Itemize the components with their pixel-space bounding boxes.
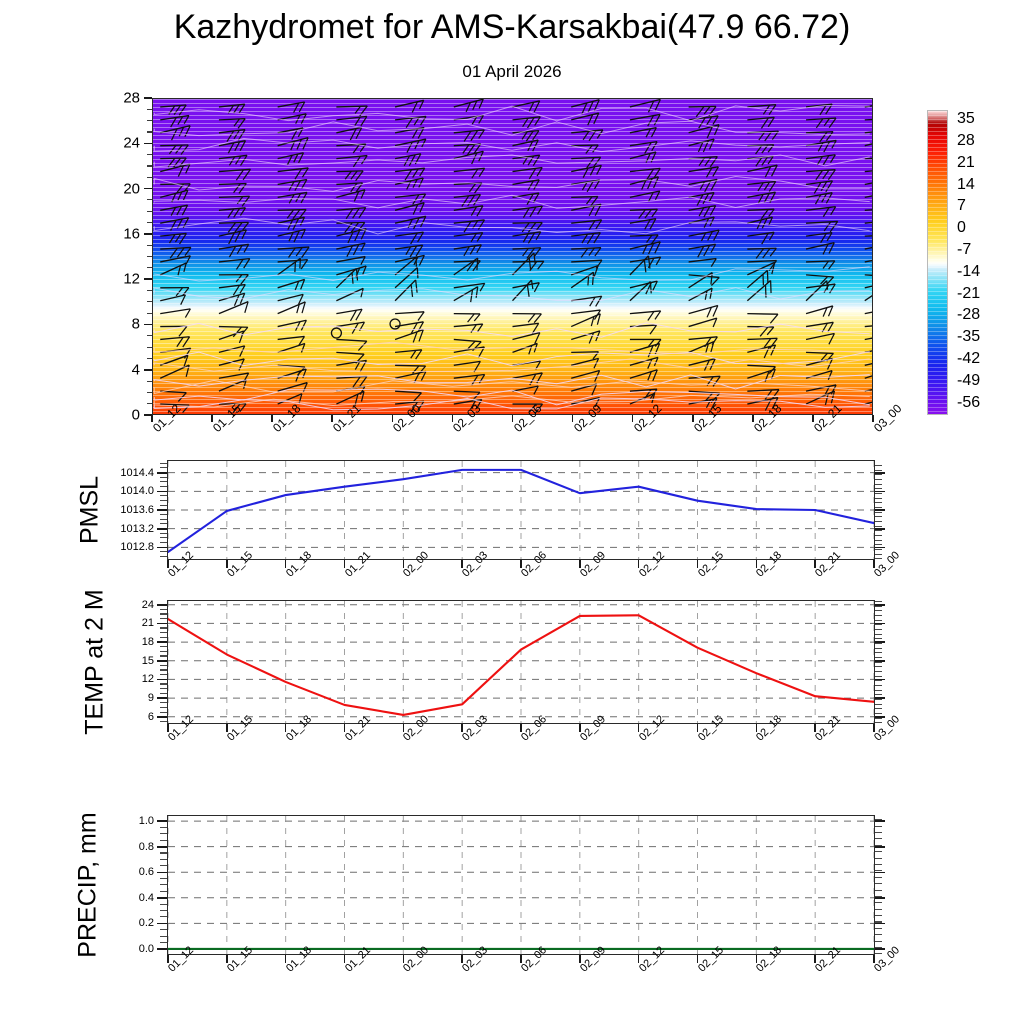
precip-y-minor-tick-right [875,915,882,916]
pmsl-y-tick-right [875,547,885,549]
precip-y-tick-label: 1.0 [139,815,154,827]
pmsl-x-tick [638,560,640,568]
temp-2m-y-minor-tick-right [875,634,882,635]
upper-air-cross-section-panel [152,98,873,415]
precip-y-minor-tick-right [875,953,882,954]
precip-y-tick [157,948,167,950]
precip-y-minor-tick [160,884,167,885]
colorbar-tick-label: 0 [957,219,966,237]
main-y-minor-tick [147,301,152,302]
precip-y-minor-tick-right [875,870,882,871]
colorbar-tick-label: -42 [957,350,980,368]
pmsl-y-minor-tick [160,500,167,501]
pmsl-y-minor-tick [160,505,167,506]
temp-2m-y-minor-tick-right [875,685,882,686]
main-y-minor-tick [147,335,152,336]
pmsl-y-minor-tick [160,481,167,482]
pmsl-x-tick [344,560,346,568]
temp-2m-y-tick [157,697,167,699]
pmsl-y-minor-tick-right [875,488,882,489]
temp-2m-y-minor-tick-right [875,671,882,672]
temp-2m-y-minor-tick-right [875,718,882,719]
pmsl-y-minor-tick-right [875,493,882,494]
temp-2m-y-minor-tick-right [875,713,882,714]
temp-2m-y-minor-tick-right [875,704,882,705]
pmsl-y-tick-label: 1012.8 [120,541,154,553]
colorbar-tick-label: -14 [957,263,980,281]
temp-2m-y-minor-tick-right [875,648,882,649]
temp-2m-y-minor-tick-right [875,676,882,677]
precip-y-minor-tick-right [875,819,882,820]
pmsl-y-minor-tick [160,533,167,534]
main-y-tick [144,369,152,371]
main-y-tick [144,97,152,99]
pmsl-y-minor-tick-right [875,521,882,522]
colorbar-tick-label: 35 [957,110,975,128]
temp-2m-y-tick [157,679,167,681]
temp-2m-y-minor-tick [160,669,167,670]
temp-2m-y-minor-tick-right [875,606,882,607]
temp-2m-y-minor-tick [160,693,167,694]
white-contour-lines [153,99,872,414]
precip-y-tick [157,820,167,822]
temp-2m-y-minor-tick-right [875,615,882,616]
precip-y-tick-right [875,948,885,950]
main-y-minor-tick [147,131,152,132]
precip-y-tick [157,846,167,848]
colorbar-tick-label: -21 [957,285,980,303]
pmsl-y-minor-tick-right [875,498,882,499]
precip-y-minor-tick-right [875,896,882,897]
temp-2m-y-minor-tick [160,627,167,628]
precip-y-tick-right [875,897,885,899]
main-y-minor-tick [147,154,152,155]
precip-y-minor-tick-right [875,877,882,878]
pmsl-y-minor-tick-right [875,535,882,536]
main-y-minor-tick [147,313,152,314]
pmsl-y-tick-right [875,509,885,511]
main-y-minor-tick [147,381,152,382]
pmsl-y-minor-tick-right [875,554,882,555]
main-y-minor-tick [147,177,152,178]
pmsl-y-minor-tick-right [875,479,882,480]
precip-y-minor-tick-right [875,902,882,903]
temp-2m-y-tick-label: 6 [148,711,154,723]
precip-y-minor-tick-right [875,838,882,839]
main-y-minor-tick [147,211,152,212]
precip-y-minor-tick [160,833,167,834]
precip-y-tick [157,897,167,899]
temp-2m-y-minor-tick [160,688,167,689]
main-y-tick-label: 20 [123,180,140,197]
precip-x-tick [285,955,287,963]
page-title: Kazhydromet for AMS-Karsakbai(47.9 66.72… [0,8,1024,47]
main-panel-y-axis: 0481216202428 [100,98,152,415]
precip-y-axis-right [875,815,889,955]
precip-y-minor-tick [160,916,167,917]
page-subtitle: 01 April 2026 [0,62,1024,82]
temp-2m-y-minor-tick [160,651,167,652]
precip-y-minor-tick-right [875,832,882,833]
precip-y-minor-tick-right [875,934,882,935]
temp-2m-y-minor-tick-right [875,629,882,630]
precip-y-minor-tick [160,929,167,930]
temp-2m-x-tick [344,724,346,732]
temp-2m-y-minor-tick-right [875,694,882,695]
precip-y-minor-tick [160,865,167,866]
temp-2m-y-minor-tick-right [875,708,882,709]
main-y-minor-tick [147,290,152,291]
temp-2m-y-minor-tick-right [875,624,882,625]
temp-2m-y-minor-tick [160,637,167,638]
precip-y-minor-tick [160,859,167,860]
precip-axis-title: PRECIP, mm [74,812,103,957]
pmsl-y-minor-tick-right [875,516,882,517]
precip-y-minor-tick [160,891,167,892]
pmsl-y-tick [157,509,167,511]
temp-2m-y-tick-label: 21 [142,617,154,629]
pmsl-y-tick [157,491,167,493]
pmsl-y-minor-tick [160,495,167,496]
pmsl-y-minor-tick [160,537,167,538]
pmsl-y-minor-tick [160,486,167,487]
main-y-tick-label: 16 [123,225,140,242]
temp-2m-y-minor-tick [160,665,167,666]
pmsl-y-tick [157,547,167,549]
pmsl-x-tick [285,560,287,568]
pmsl-y-minor-tick [160,463,167,464]
temp-2m-y-minor-tick-right [875,638,882,639]
temp-2m-y-tick [157,660,167,662]
main-x-tick-label: 03_00 [871,401,904,434]
temp-2m-y-minor-tick [160,613,167,614]
precip-axis-group: 0.00.20.40.60.81.0 [107,815,167,1025]
precip-y-minor-tick-right [875,890,882,891]
pmsl-y-tick-label: 1014.0 [120,485,154,497]
precip-y-tick-label: 0.6 [139,866,154,878]
precip-y-minor-tick-right [875,858,882,859]
pmsl-y-minor-tick-right [875,526,882,527]
colorbar-tick-label: -56 [957,394,980,412]
main-y-minor-tick [147,392,152,393]
temp-2m-y-minor-tick [160,632,167,633]
precip-plot [168,816,874,954]
main-x-tick [512,415,514,422]
precip-y-minor-tick-right [875,883,882,884]
colorbar-tick-label: -28 [957,306,980,324]
main-y-minor-tick [147,120,152,121]
pmsl-y-minor-tick-right [875,530,882,531]
precip-y-tick [157,872,167,874]
temp-2m-y-minor-tick-right [875,722,882,723]
main-y-tick-label: 24 [123,135,140,152]
main-y-minor-tick [147,222,152,223]
temp-2m-y-minor-tick [160,712,167,713]
pmsl-y-minor-tick-right [875,540,882,541]
temp-2m-y-minor-tick-right [875,699,882,700]
temp-2m-x-tick [697,724,699,732]
temperature-colorbar [927,110,948,415]
precip-y-minor-tick [160,904,167,905]
main-y-minor-tick [147,199,152,200]
main-y-minor-tick [147,403,152,404]
temp-2m-y-minor-tick [160,646,167,647]
temp-2m-y-axis-right [875,600,889,724]
precip-y-minor-tick-right [875,909,882,910]
main-y-minor-tick [147,245,152,246]
main-y-tick-label: 8 [132,316,140,333]
temp-2m-y-tick [157,604,167,606]
temp-2m-y-minor-tick-right [875,690,882,691]
temp-2m-y-tick-label: 24 [142,599,154,611]
precip-y-minor-tick-right [875,947,882,948]
temp-2m-plot [168,601,874,723]
precip-y-minor-tick-right [875,851,882,852]
temp-2m-panel [167,600,875,724]
precip-y-minor-tick-right [875,928,882,929]
main-y-tick [144,278,152,280]
pmsl-y-minor-tick [160,514,167,515]
pmsl-y-minor-tick [160,467,167,468]
pmsl-y-tick-label: 1013.6 [120,504,154,516]
main-y-minor-tick [147,358,152,359]
main-y-minor-tick [147,256,152,257]
colorbar-tick-label: -7 [957,241,971,259]
pmsl-axis-title: PMSL [76,476,105,544]
main-y-tick-label: 12 [123,271,140,288]
colorbar-tick-label: 14 [957,176,975,194]
temp-2m-x-axis: 01_1201_1501_1801_2102_0002_0302_0602_09… [167,724,875,780]
pmsl-y-minor-tick [160,542,167,543]
pmsl-y-axis-right [875,460,889,560]
temp-2m-y-minor-tick [160,609,167,610]
temp-2m-y-minor-tick-right [875,601,882,602]
precip-x-axis: 01_1201_1501_1801_2102_0002_0302_0602_09… [167,955,875,1011]
pmsl-y-minor-tick [160,556,167,557]
precip-y-tick-right [875,872,885,874]
temp-2m-y-tick [157,623,167,625]
pmsl-y-minor-tick [160,551,167,552]
pmsl-y-tick-right [875,491,885,493]
main-y-tick [144,233,152,235]
precip-y-minor-tick-right [875,941,882,942]
colorbar-tick-label: -35 [957,328,980,346]
precip-y-tick-right [875,923,885,925]
temp-2m-y-minor-tick [160,683,167,684]
temp-2m-y-minor-tick-right [875,662,882,663]
pmsl-y-tick-label: 1014.4 [120,467,154,479]
precip-y-tick-label: 0.8 [139,841,154,853]
temp-2m-y-tick [157,716,167,718]
temp-axis-title: TEMP at 2 M [81,589,110,734]
temp-2m-y-tick [157,641,167,643]
precip-y-minor-tick [160,878,167,879]
pmsl-x-tick [697,560,699,568]
temp-2m-y-minor-tick [160,707,167,708]
temp-2m-y-minor-tick [160,721,167,722]
temp-2m-y-minor-tick-right [875,666,882,667]
main-y-tick-label: 4 [132,361,140,378]
precip-y-tick [157,923,167,925]
precip-x-tick [344,955,346,963]
precip-y-tick-label: 0.0 [139,943,154,955]
pmsl-y-tick [157,472,167,474]
main-y-tick-label: 28 [123,90,140,107]
precip-y-tick-label: 0.2 [139,917,154,929]
pmsl-y-minor-tick-right [875,474,882,475]
precip-y-minor-tick [160,827,167,828]
temp-2m-y-minor-tick [160,618,167,619]
main-y-tick [144,188,152,190]
temp-axis-group: 691215182124 [107,600,167,794]
colorbar-tick-label: 21 [957,154,975,172]
pmsl-panel [167,460,875,560]
pmsl-y-tick-label: 1013.2 [120,523,154,535]
temp-2m-y-tick-label: 9 [148,692,154,704]
pmsl-y-tick-right [875,472,885,474]
precip-y-tick-label: 0.4 [139,892,154,904]
precip-y-minor-tick [160,840,167,841]
precip-y-tick-right [875,820,885,822]
precip-y-minor-tick-right [875,826,882,827]
pmsl-y-tick [157,528,167,530]
precip-y-minor-tick-right [875,921,882,922]
precip-x-tick [697,955,699,963]
pmsl-y-minor-tick-right [875,558,882,559]
pmsl-y-minor-tick-right [875,512,882,513]
temp-2m-y-tick-label: 15 [142,655,154,667]
precip-y-minor-tick [160,942,167,943]
temp-2m-y-minor-tick-right [875,620,882,621]
temp-2m-x-tick [638,724,640,732]
colorbar-tick-label: 7 [957,197,966,215]
precip-panel [167,815,875,955]
pmsl-y-minor-tick [160,477,167,478]
pmsl-y-minor-tick-right [875,544,882,545]
pmsl-y-minor-tick-right [875,470,882,471]
precip-x-tick [638,955,640,963]
temp-2m-y-tick-label: 12 [142,673,154,685]
main-y-tick-label: 0 [132,407,140,424]
pmsl-y-minor-tick-right [875,465,882,466]
temp-2m-y-minor-tick-right [875,657,882,658]
pmsl-x-axis: 01_1201_1501_1801_2102_0002_0302_0602_09… [167,560,875,616]
colorbar-tick-label: 28 [957,132,975,150]
temp-2m-x-tick [285,724,287,732]
precip-y-minor-tick-right [875,864,882,865]
pmsl-plot [168,461,874,559]
pmsl-y-minor-tick-right [875,502,882,503]
temp-2m-y-minor-tick-right [875,652,882,653]
temp-2m-y-minor-tick-right [875,643,882,644]
main-y-tick [144,324,152,326]
precip-y-minor-tick [160,910,167,911]
precip-y-minor-tick [160,852,167,853]
main-y-tick [144,143,152,145]
pmsl-y-minor-tick [160,523,167,524]
colorbar-tick-label: -49 [957,372,980,390]
temp-2m-y-minor-tick [160,674,167,675]
pmsl-y-minor-tick-right [875,507,882,508]
temp-2m-y-minor-tick-right [875,610,882,611]
main-y-minor-tick [147,267,152,268]
pmsl-y-minor-tick [160,519,167,520]
temp-2m-y-minor-tick-right [875,680,882,681]
temp-2m-y-tick-label: 18 [142,636,154,648]
pmsl-y-minor-tick-right [875,549,882,550]
temp-2m-y-minor-tick [160,702,167,703]
main-y-minor-tick [147,347,152,348]
temp-2m-y-minor-tick [160,655,167,656]
precip-y-tick-right [875,846,885,848]
main-y-minor-tick [147,109,152,110]
pmsl-y-tick-right [875,528,885,530]
colorbar-stripes [928,111,947,414]
precip-y-minor-tick-right [875,845,882,846]
main-y-minor-tick [147,165,152,166]
precip-y-minor-tick [160,936,167,937]
pmsl-y-minor-tick-right [875,484,882,485]
